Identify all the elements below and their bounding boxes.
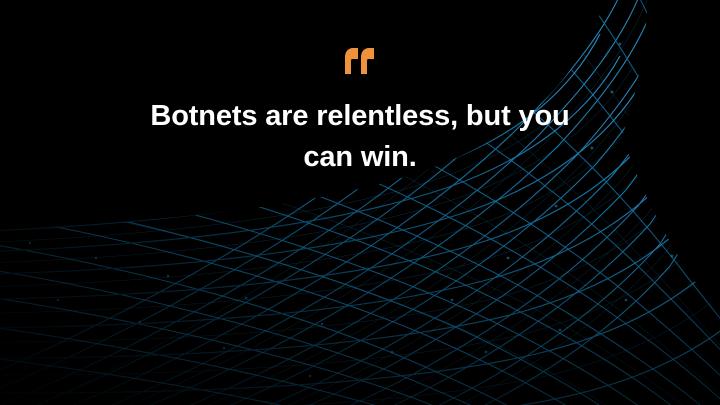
- hyperboloid-mesh-graphic: [0, 0, 720, 405]
- background-artwork: [0, 0, 720, 405]
- quote-slide: Botnets are relentless, but you can win.: [0, 0, 720, 405]
